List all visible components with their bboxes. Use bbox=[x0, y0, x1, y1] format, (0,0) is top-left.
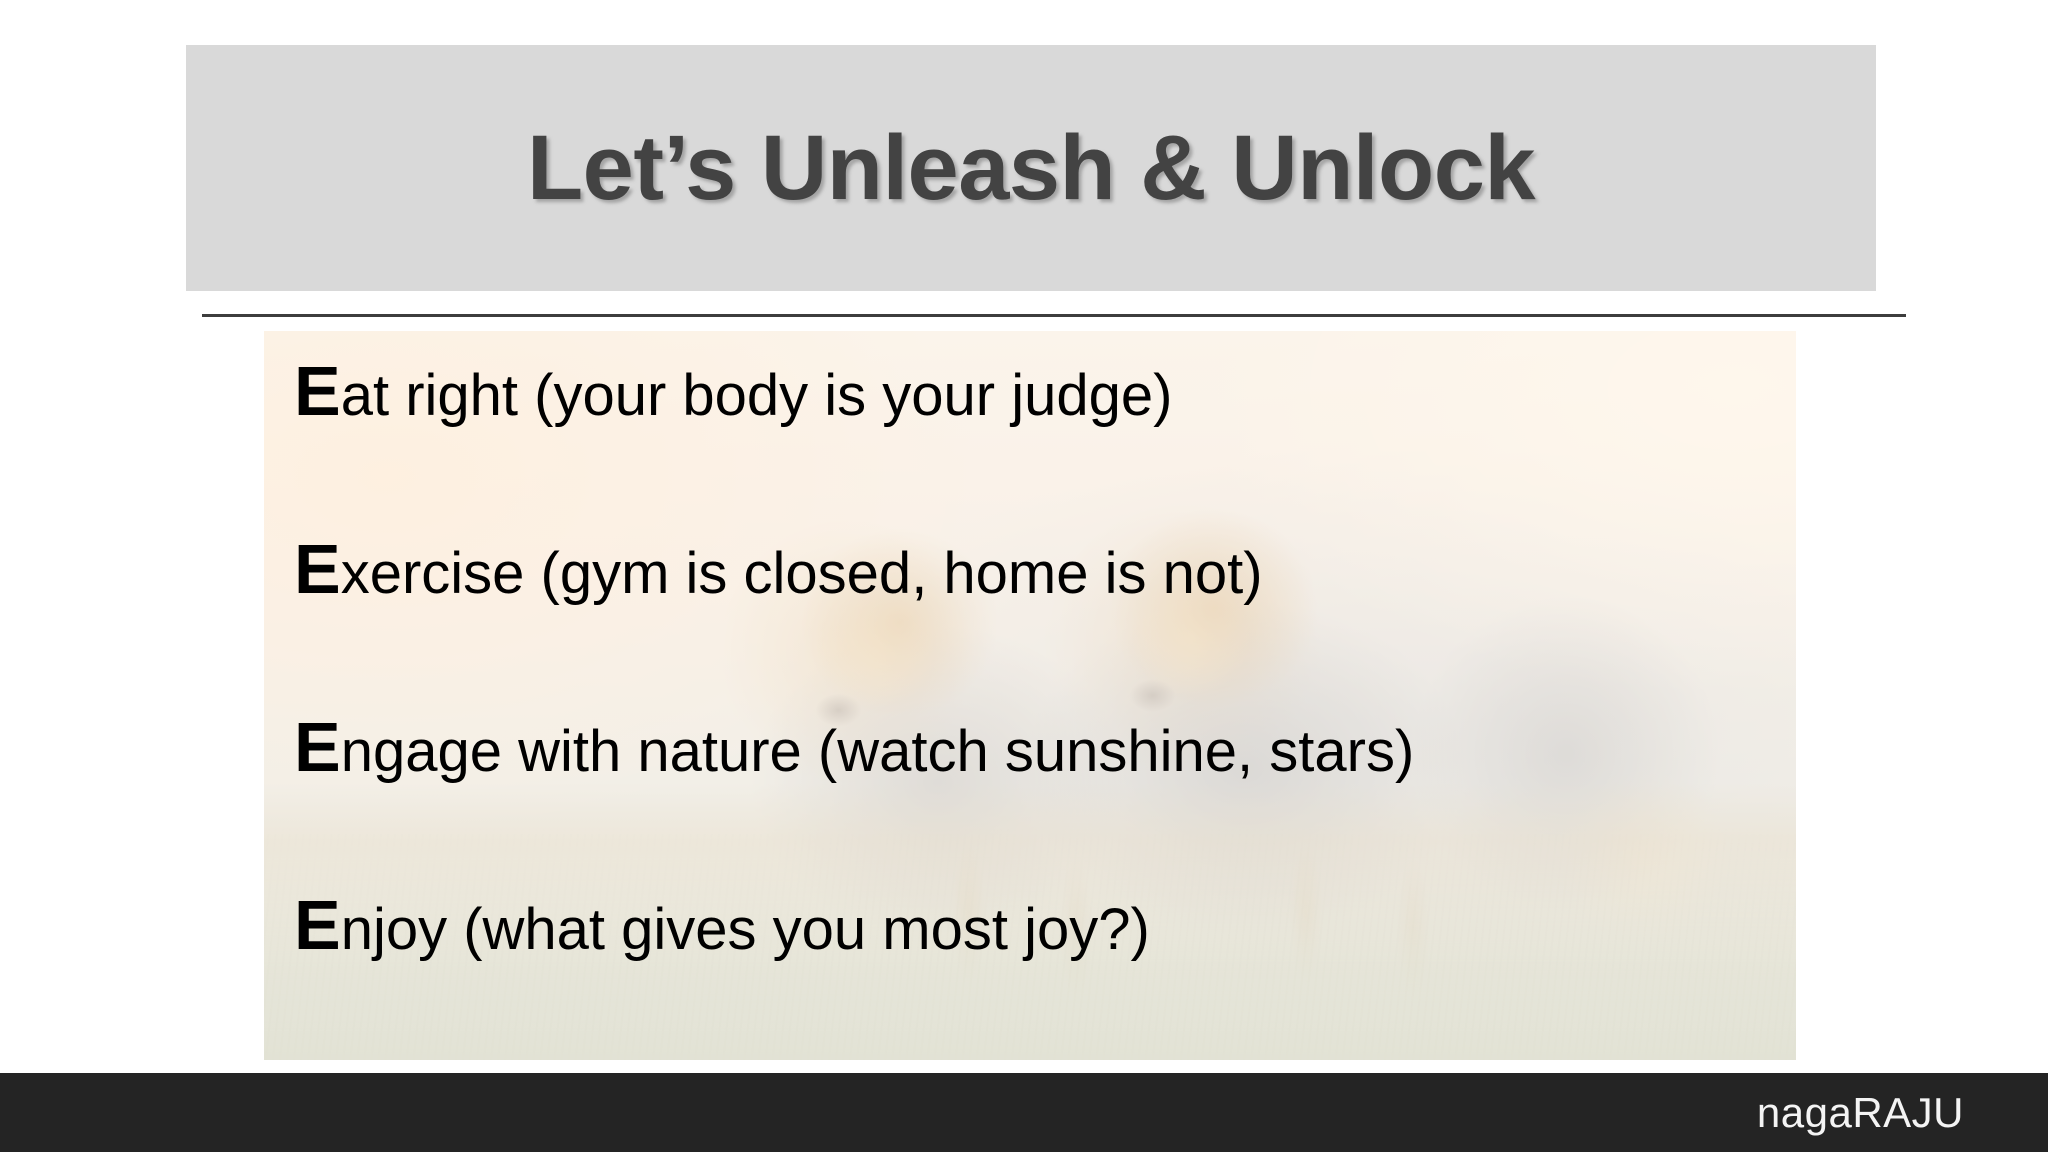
bullet-item-engage: E ngage with nature (watch sunshine, sta… bbox=[294, 715, 1796, 893]
bullet-initial-letter: E bbox=[294, 537, 341, 601]
title-divider-rule bbox=[202, 314, 1906, 317]
bullet-text: ngage with nature (watch sunshine, stars… bbox=[341, 715, 1415, 781]
footer-bar: nagaRAJU bbox=[0, 1073, 2048, 1152]
bullet-initial-letter: E bbox=[294, 359, 341, 423]
content-photo-panel: E at right (your body is your judge) E x… bbox=[264, 331, 1796, 1060]
slide-canvas: Let’s Unleash & Unlock E at right (your … bbox=[0, 0, 2048, 1152]
bullet-text: njoy (what gives you most joy?) bbox=[341, 893, 1150, 959]
title-band: Let’s Unleash & Unlock bbox=[186, 45, 1876, 291]
bullet-initial-letter: E bbox=[294, 715, 341, 779]
bullet-text: at right (your body is your judge) bbox=[341, 359, 1173, 425]
page-title: Let’s Unleash & Unlock bbox=[527, 120, 1535, 217]
bullet-item-enjoy: E njoy (what gives you most joy?) bbox=[294, 893, 1796, 1060]
bullet-item-eat: E at right (your body is your judge) bbox=[294, 359, 1796, 537]
bullet-initial-letter: E bbox=[294, 893, 341, 957]
footer-author-label: nagaRAJU bbox=[1757, 1092, 1964, 1134]
bullet-item-exercise: E xercise (gym is closed, home is not) bbox=[294, 537, 1796, 715]
bullet-text: xercise (gym is closed, home is not) bbox=[341, 537, 1263, 603]
bullet-list: E at right (your body is your judge) E x… bbox=[264, 331, 1796, 1060]
